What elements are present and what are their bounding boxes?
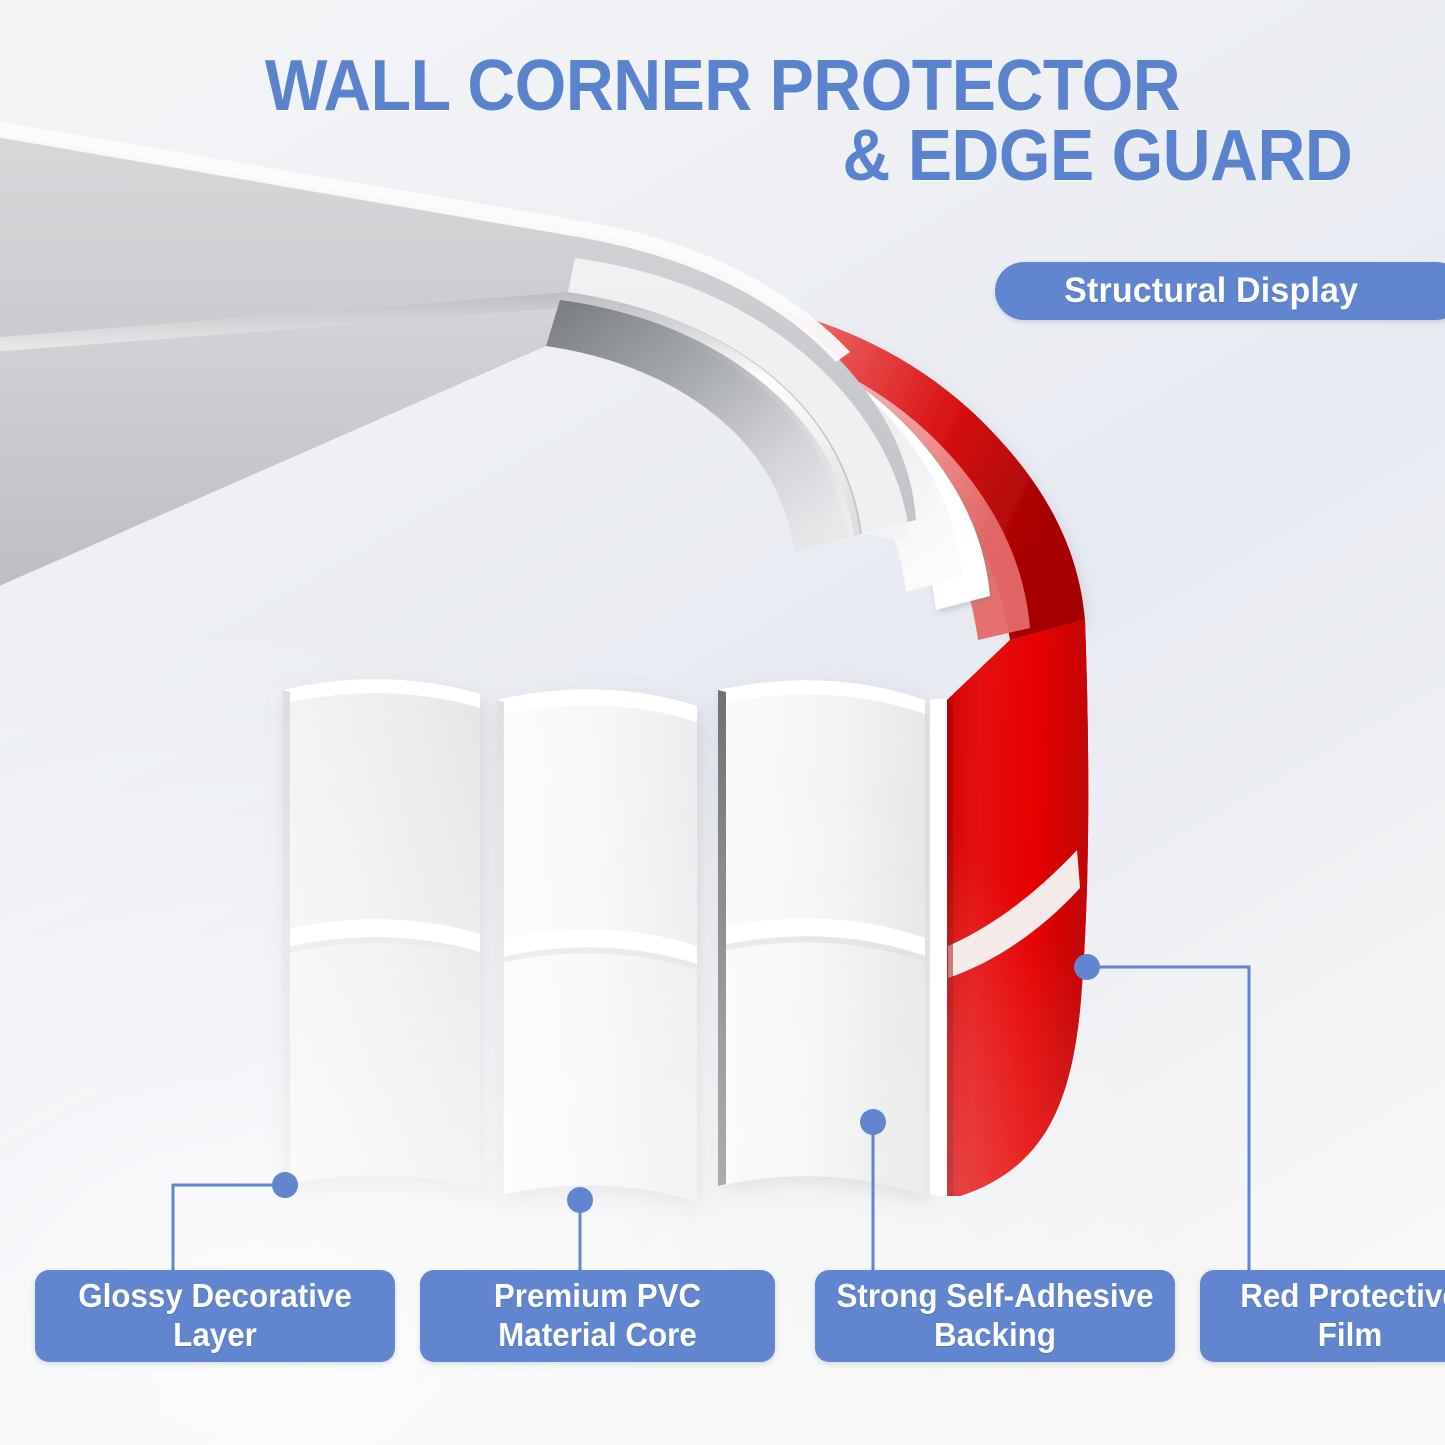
callout-label-text: Strong Self-Adhesive Backing — [824, 1277, 1166, 1355]
callout-label-text: Premium PVC Material Core — [429, 1277, 766, 1355]
callout-label-strong-self-adhesive-backing: Strong Self-Adhesive Backing — [815, 1270, 1175, 1362]
callout-dot-premium-pvc-material-core — [567, 1187, 593, 1213]
callout-label-text: Glossy Decorative Layer — [44, 1277, 386, 1355]
callout-label-red-protective-film: Red Protective Film — [1200, 1270, 1445, 1362]
callout-dot-red-protective-film — [1074, 954, 1100, 980]
structural-display-badge: Structural Display — [995, 262, 1445, 320]
structural-display-badge-label: Structural Display — [1065, 271, 1396, 311]
callout-dot-strong-self-adhesive-backing — [860, 1109, 886, 1135]
callout-lines — [0, 0, 1445, 1445]
callout-dot-glossy-decorative-layer — [272, 1172, 298, 1198]
callout-label-glossy-decorative-layer: Glossy Decorative Layer — [35, 1270, 395, 1362]
product-infographic: WALL CORNER PROTECTOR & EDGE GUARD Struc… — [0, 0, 1445, 1445]
callout-label-premium-pvc-material-core: Premium PVC Material Core — [420, 1270, 775, 1362]
callout-label-text: Red Protective Film — [1208, 1277, 1445, 1355]
